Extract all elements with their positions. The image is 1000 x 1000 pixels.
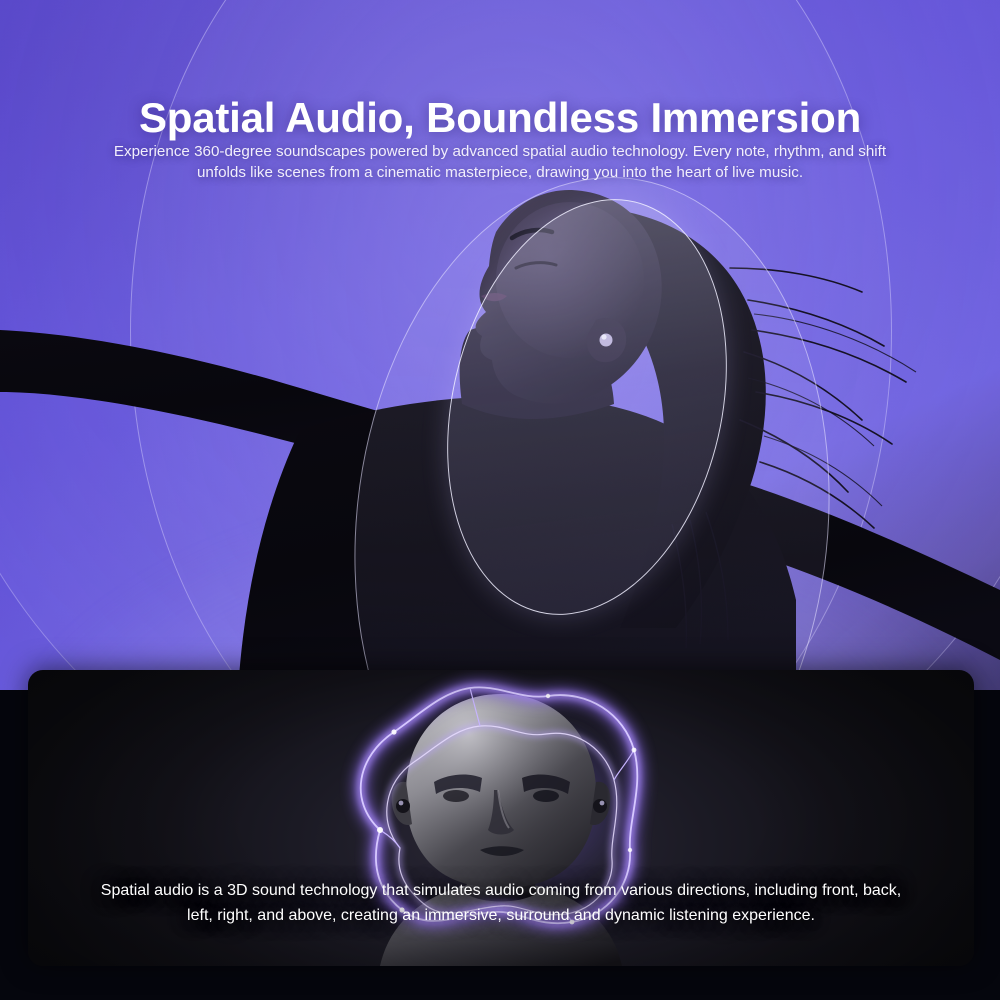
page-title: Spatial Audio, Boundless Immersion [0,94,1000,142]
spatial-audio-info-panel: Spatial audio is a 3D sound technology t… [28,670,974,966]
hero-section: Spatial Audio, Boundless Immersion Exper… [0,0,1000,690]
panel-caption: Spatial audio is a 3D sound technology t… [91,878,911,928]
spatial-audio-promo-page: Spatial Audio, Boundless Immersion Exper… [0,0,1000,1000]
hero-subtitle: Experience 360-degree soundscapes powere… [90,141,910,183]
